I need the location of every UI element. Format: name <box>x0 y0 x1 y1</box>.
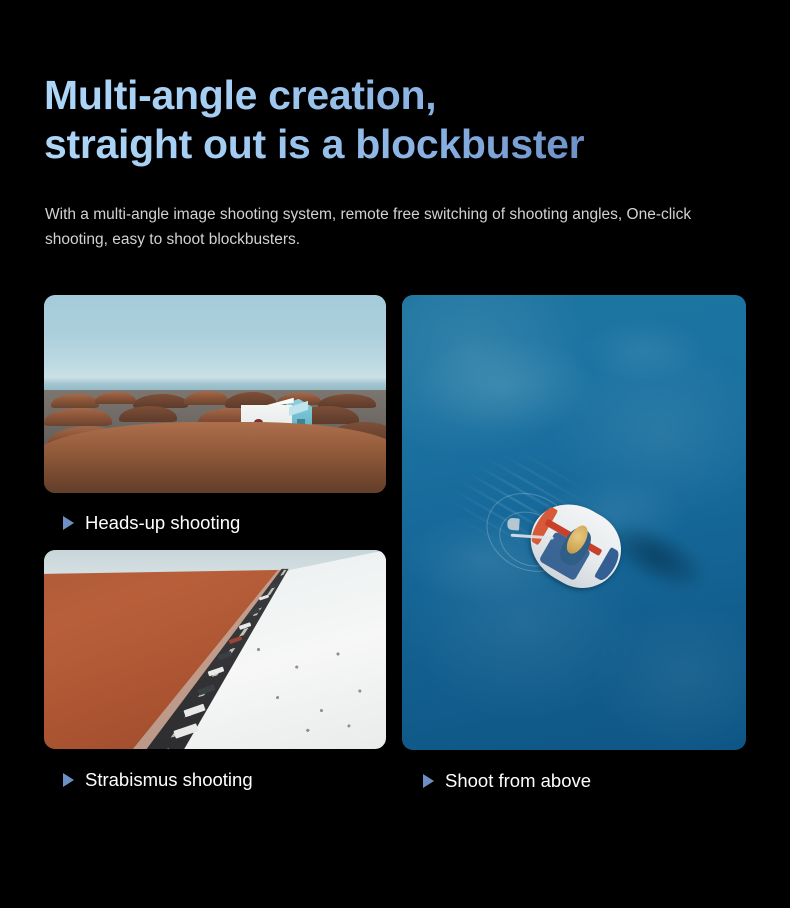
ocean-scene <box>402 295 746 750</box>
promo-page: Multi-angle creation, straight out is a … <box>0 0 790 908</box>
paddle-blade <box>507 517 520 530</box>
caption-label: Shoot from above <box>445 770 591 792</box>
caption-label: Strabismus shooting <box>85 769 253 791</box>
desert-yardang-cabin-photo[interactable] <box>44 295 386 493</box>
salt-flat-scene <box>44 550 386 749</box>
sky <box>44 295 386 382</box>
salt-flat-specks <box>242 630 379 739</box>
play-triangle-icon <box>63 516 74 530</box>
caption-shoot-from-above: Shoot from above <box>423 770 591 792</box>
caption-strabismus: Strabismus shooting <box>63 769 253 791</box>
desert-scene <box>44 295 386 493</box>
play-triangle-icon <box>63 773 74 787</box>
caption-label: Heads-up shooting <box>85 512 240 534</box>
rock-ridge <box>95 392 136 404</box>
salt-flat-highway-photo[interactable] <box>44 550 386 749</box>
media-gallery: Heads-up shooting <box>0 0 790 908</box>
rock-ridge <box>184 391 228 405</box>
foreground-ridge <box>44 422 386 493</box>
play-triangle-icon <box>423 774 434 788</box>
caption-heads-up: Heads-up shooting <box>63 512 240 534</box>
paddleboarder-aerial-photo[interactable] <box>402 295 746 750</box>
